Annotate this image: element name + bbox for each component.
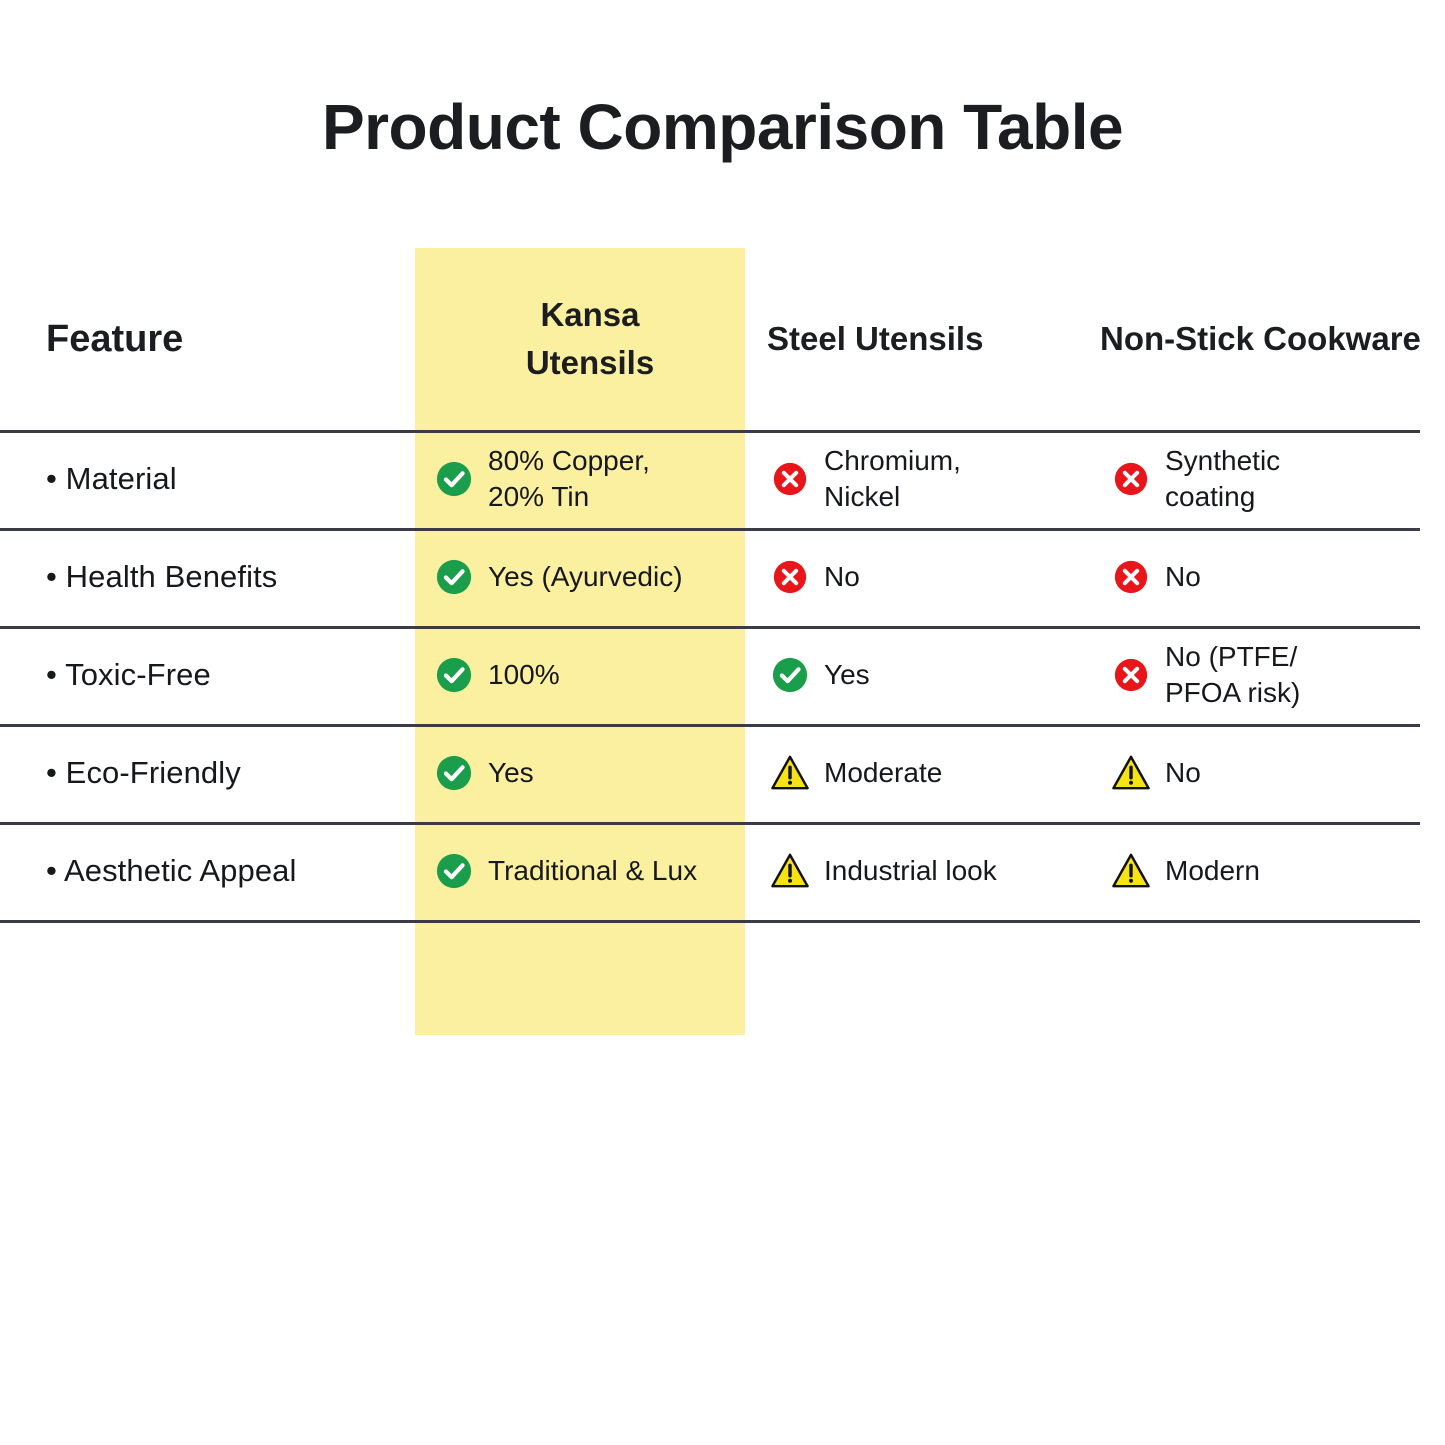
- value-text: Traditional & Lux: [488, 853, 697, 889]
- value-cell-kansa: 100%: [415, 626, 745, 724]
- comparison-table: Feature Kansa Utensils Steel Utensils No…: [0, 248, 1445, 923]
- value-cell-steel: Chromium, Nickel: [745, 430, 1090, 528]
- cross-circle-icon: [771, 460, 809, 498]
- value-text: Yes: [824, 657, 870, 693]
- value-cell-kansa: Yes (Ayurvedic): [415, 528, 745, 626]
- value-group: No (PTFE/ PFOA risk): [1112, 639, 1300, 711]
- value-text: Synthetic coating: [1165, 443, 1280, 515]
- value-text: Yes (Ayurvedic): [488, 559, 683, 595]
- value-group: 100%: [435, 656, 560, 694]
- value-cell-steel: Yes: [745, 626, 1090, 724]
- value-group: No: [771, 558, 860, 596]
- value-cell-nonstick: Modern: [1090, 822, 1445, 920]
- header-label-nonstick: Non-Stick Cookware: [1100, 315, 1421, 363]
- header-label-kansa: Kansa Utensils: [435, 291, 745, 387]
- feature-cell: • Toxic-Free: [0, 626, 415, 724]
- value-cell-nonstick: No (PTFE/ PFOA risk): [1090, 626, 1445, 724]
- feature-label: • Toxic-Free: [46, 657, 211, 693]
- check-circle-icon: [435, 558, 473, 596]
- feature-cell: • Eco-Friendly: [0, 724, 415, 822]
- value-cell-kansa: Traditional & Lux: [415, 822, 745, 920]
- value-group: Yes: [435, 754, 534, 792]
- table-row: • Eco-FriendlyYesModerateNo: [0, 724, 1445, 822]
- header-cell-feature: Feature: [0, 248, 415, 430]
- value-text: Yes: [488, 755, 534, 791]
- value-text: Modern: [1165, 853, 1260, 889]
- value-group: Synthetic coating: [1112, 443, 1280, 515]
- row-divider: [0, 724, 1420, 727]
- table-row: • Aesthetic AppealTraditional & LuxIndus…: [0, 822, 1445, 920]
- feature-cell: • Health Benefits: [0, 528, 415, 626]
- header-cell-kansa: Kansa Utensils: [415, 248, 745, 430]
- check-circle-icon: [435, 754, 473, 792]
- value-text: No: [1165, 559, 1201, 595]
- value-cell-steel: Moderate: [745, 724, 1090, 822]
- page-title: Product Comparison Table: [0, 92, 1445, 162]
- cross-circle-icon: [1112, 558, 1150, 596]
- value-cell-nonstick: No: [1090, 528, 1445, 626]
- row-divider: [0, 822, 1420, 825]
- check-circle-icon: [435, 852, 473, 890]
- header-cell-steel: Steel Utensils: [745, 248, 1090, 430]
- check-circle-icon: [435, 656, 473, 694]
- cross-circle-icon: [1112, 460, 1150, 498]
- value-group: Traditional & Lux: [435, 852, 697, 890]
- value-text: No: [824, 559, 860, 595]
- check-circle-icon: [435, 460, 473, 498]
- table-header-row: Feature Kansa Utensils Steel Utensils No…: [0, 248, 1445, 430]
- value-group: Yes (Ayurvedic): [435, 558, 683, 596]
- value-group: Industrial look: [771, 852, 997, 890]
- value-group: No: [1112, 754, 1201, 792]
- value-group: Moderate: [771, 754, 942, 792]
- row-divider: [0, 626, 1420, 629]
- row-divider: [0, 528, 1420, 531]
- feature-label: • Eco-Friendly: [46, 755, 241, 791]
- value-text: No: [1165, 755, 1201, 791]
- value-group: No: [1112, 558, 1201, 596]
- header-label-steel: Steel Utensils: [767, 315, 983, 363]
- header-cell-nonstick: Non-Stick Cookware: [1090, 248, 1445, 430]
- header-label-feature: Feature: [46, 318, 183, 361]
- value-group: Modern: [1112, 852, 1260, 890]
- value-text: 80% Copper, 20% Tin: [488, 443, 650, 515]
- warning-triangle-icon: [771, 852, 809, 890]
- value-cell-kansa: 80% Copper, 20% Tin: [415, 430, 745, 528]
- cross-circle-icon: [771, 558, 809, 596]
- check-circle-icon: [771, 656, 809, 694]
- warning-triangle-icon: [1112, 852, 1150, 890]
- value-cell-steel: No: [745, 528, 1090, 626]
- table-row: • Toxic-Free100%YesNo (PTFE/ PFOA risk): [0, 626, 1445, 724]
- feature-label: • Material: [46, 461, 177, 497]
- table-row: • Material80% Copper, 20% TinChromium, N…: [0, 430, 1445, 528]
- value-group: 80% Copper, 20% Tin: [435, 443, 650, 515]
- value-text: No (PTFE/ PFOA risk): [1165, 639, 1300, 711]
- value-group: Chromium, Nickel: [771, 443, 961, 515]
- warning-triangle-icon: [771, 754, 809, 792]
- value-text: Industrial look: [824, 853, 997, 889]
- feature-cell: • Material: [0, 430, 415, 528]
- feature-cell: • Aesthetic Appeal: [0, 822, 415, 920]
- value-text: Moderate: [824, 755, 942, 791]
- value-group: Yes: [771, 656, 870, 694]
- row-divider: [0, 430, 1420, 433]
- value-cell-kansa: Yes: [415, 724, 745, 822]
- cross-circle-icon: [1112, 656, 1150, 694]
- feature-label: • Aesthetic Appeal: [46, 853, 297, 889]
- warning-triangle-icon: [1112, 754, 1150, 792]
- value-cell-nonstick: No: [1090, 724, 1445, 822]
- value-text: 100%: [488, 657, 560, 693]
- feature-label: • Health Benefits: [46, 559, 277, 595]
- value-cell-steel: Industrial look: [745, 822, 1090, 920]
- table-bottom-divider: [0, 920, 1420, 923]
- value-cell-nonstick: Synthetic coating: [1090, 430, 1445, 528]
- value-text: Chromium, Nickel: [824, 443, 961, 515]
- table-row: • Health BenefitsYes (Ayurvedic)NoNo: [0, 528, 1445, 626]
